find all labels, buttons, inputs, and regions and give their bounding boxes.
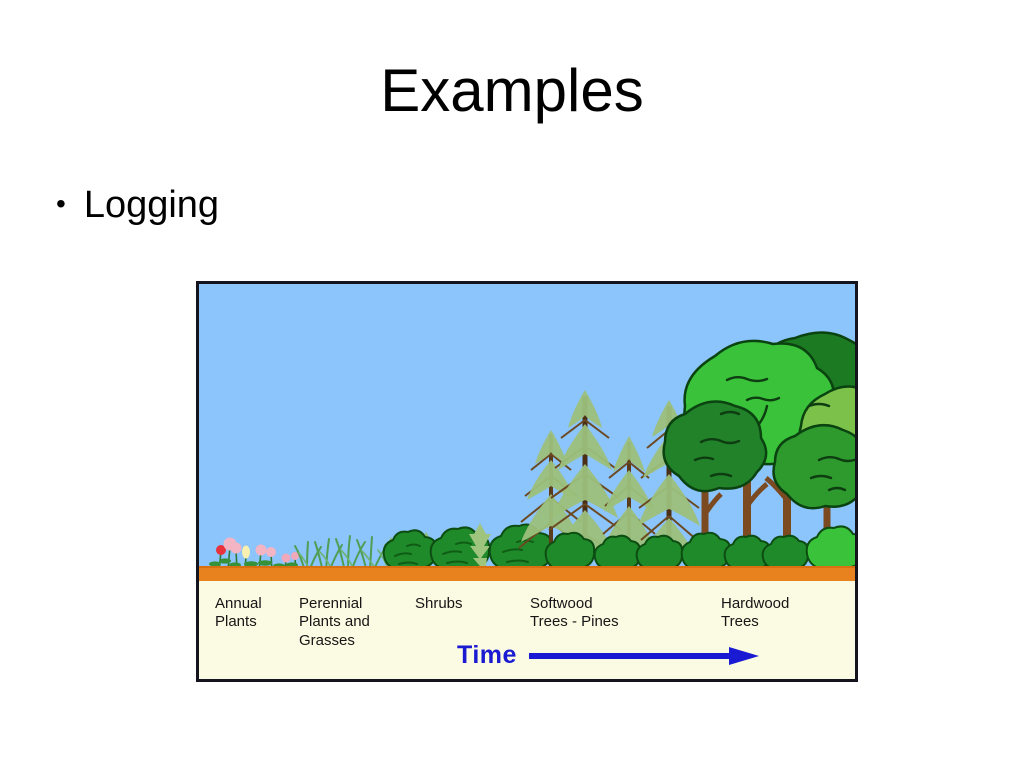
time-axis-label: Time	[457, 641, 517, 670]
time-axis: Time	[457, 641, 761, 670]
succession-diagram-figure: Annual Plants Perennial Plants and Grass…	[196, 281, 858, 682]
tree-canopy	[664, 402, 767, 492]
stage-label-annual-plants: Annual Plants	[215, 595, 262, 632]
stage-label-hardwood-trees: Hardwood Trees	[721, 595, 789, 632]
succession-caption-panel: Annual Plants Perennial Plants and Grass…	[199, 581, 855, 682]
stage-label-softwood-trees-pines: Softwood Trees - Pines	[530, 595, 619, 632]
time-arrow-icon	[529, 645, 761, 667]
stage-label-shrubs: Shrubs	[415, 595, 463, 613]
list-item-label: Logging	[84, 184, 219, 228]
ground-horizon-line	[199, 566, 855, 568]
list-item: • Logging	[56, 184, 756, 228]
succession-illustration	[199, 284, 855, 581]
succession-scene	[199, 284, 855, 581]
bullet-dot-icon: •	[56, 190, 66, 218]
page-title: Examples	[0, 58, 1024, 124]
ground-band	[199, 567, 855, 581]
bullet-list: • Logging	[56, 184, 756, 228]
stage-label-perennial-plants-and-grasses: Perennial Plants and Grasses	[299, 595, 370, 650]
